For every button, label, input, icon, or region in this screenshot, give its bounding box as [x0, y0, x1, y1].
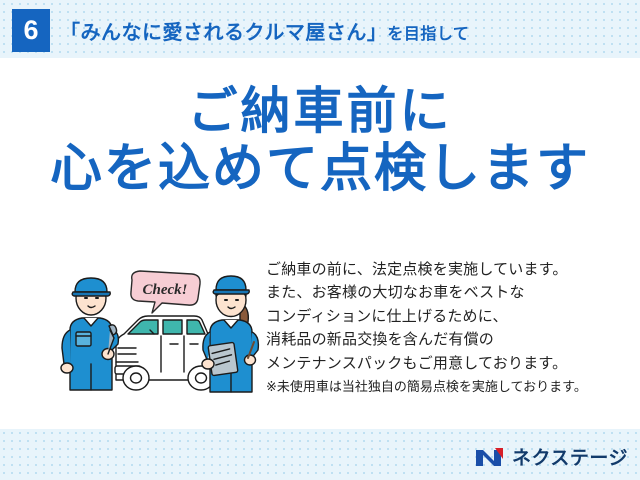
promo-banner: 6 「みんなに愛されるクルマ屋さん」を目指して ご納車前に 心を込めて点検します…	[0, 0, 640, 480]
header-title-quoted: 「みんなに愛されるクルマ屋さん」	[60, 22, 387, 44]
van-icon	[115, 316, 214, 390]
body-line-3: コンディションに仕上げるために、	[266, 308, 508, 325]
body-note: ※未使用車は当社独自の簡易点検を実施しております。	[266, 377, 632, 397]
header-title: 「みんなに愛されるクルマ屋さん」を目指して	[60, 16, 469, 45]
header-title-tail: を目指して	[387, 26, 469, 43]
nextage-n-mark-icon	[475, 446, 505, 468]
brand-name: ネクステージ	[512, 443, 628, 470]
headline-line-1: ご納車前に	[0, 84, 640, 138]
mechanics-illustration: Check!	[58, 268, 263, 400]
headline-line-2: 心を込めて点検します	[0, 140, 640, 198]
body-line-1: ご納車の前に、法定点検を実施しています。	[266, 261, 568, 278]
headline: ご納車前に 心を込めて点検します	[0, 84, 640, 198]
brand-logo: ネクステージ	[475, 443, 628, 470]
inspector-right	[202, 276, 258, 392]
section-number-badge: 6	[12, 9, 50, 52]
section-number-label: 6	[23, 17, 38, 44]
body-line-4: 消耗品の新品交換を含んだ有償の	[266, 331, 494, 348]
body-copy: ご納車の前に、法定点検を実施しています。 また、お客様の大切なお車をベストな コ…	[266, 258, 632, 397]
body-line-5: メンテナンスパックもご用意しております。	[266, 355, 567, 372]
check-bubble-label: Check!	[143, 282, 188, 298]
body-line-2: また、お客様の大切なお車をベストな	[266, 284, 525, 301]
mechanic-left	[61, 278, 118, 390]
